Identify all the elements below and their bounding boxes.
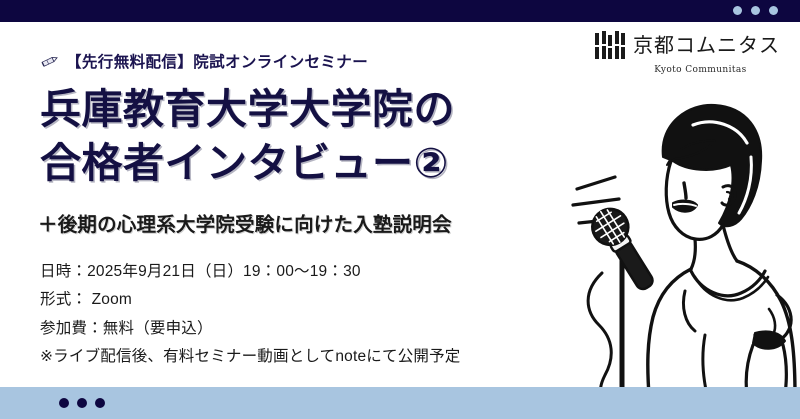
book-spines-mark-icon: [595, 31, 625, 59]
detail-fee: 参加費：無料（要申込）: [40, 315, 461, 343]
eyebrow: 【先行無料配信】院試オンラインセミナー: [40, 50, 368, 72]
logo-japanese-name: 京都コムニタス: [633, 35, 780, 55]
top-dot-2: [751, 6, 760, 15]
brand-logo: 京都コムニタス Kyoto Communitas: [595, 31, 780, 75]
page-title: 兵庫教育大学大学院の 合格者インタビュー②: [40, 82, 455, 190]
logo-row: 京都コムニタス: [595, 31, 780, 59]
logo-english-name: Kyoto Communitas: [654, 65, 746, 75]
bottom-light-blue-bar: [0, 387, 800, 419]
detail-datetime: 日時：2025年9月21日（日）19：00〜19：30: [40, 258, 461, 286]
top-decorative-dots: [733, 6, 778, 15]
eyebrow-text: 【先行無料配信】院試オンラインセミナー: [66, 50, 368, 72]
bottom-dot-3: [95, 398, 105, 408]
pencil-icon: [40, 51, 60, 71]
bottom-dot-2: [77, 398, 87, 408]
headline-line-2: 合格者インタビュー②: [40, 136, 455, 190]
top-dot-1: [733, 6, 742, 15]
seminar-banner: 京都コムニタス Kyoto Communitas 【先行無料配信】院試オンライン…: [0, 0, 800, 419]
headline-line-1: 兵庫教育大学大学院の: [40, 82, 455, 136]
bottom-decorative-dots: [59, 398, 105, 408]
detail-note: ※ライブ配信後、有料セミナー動画としてnoteにて公開予定: [40, 343, 461, 371]
subheadline: ＋後期の心理系大学院受験に向けた入塾説明会: [38, 208, 452, 237]
event-details: 日時：2025年9月21日（日）19：00〜19：30 形式： Zoom 参加費…: [40, 258, 461, 371]
bottom-dot-1: [59, 398, 69, 408]
top-dot-3: [769, 6, 778, 15]
woman-speaking-into-microphone-illustration: [555, 95, 800, 395]
detail-format: 形式： Zoom: [40, 286, 461, 314]
top-navy-bar: [0, 0, 800, 22]
